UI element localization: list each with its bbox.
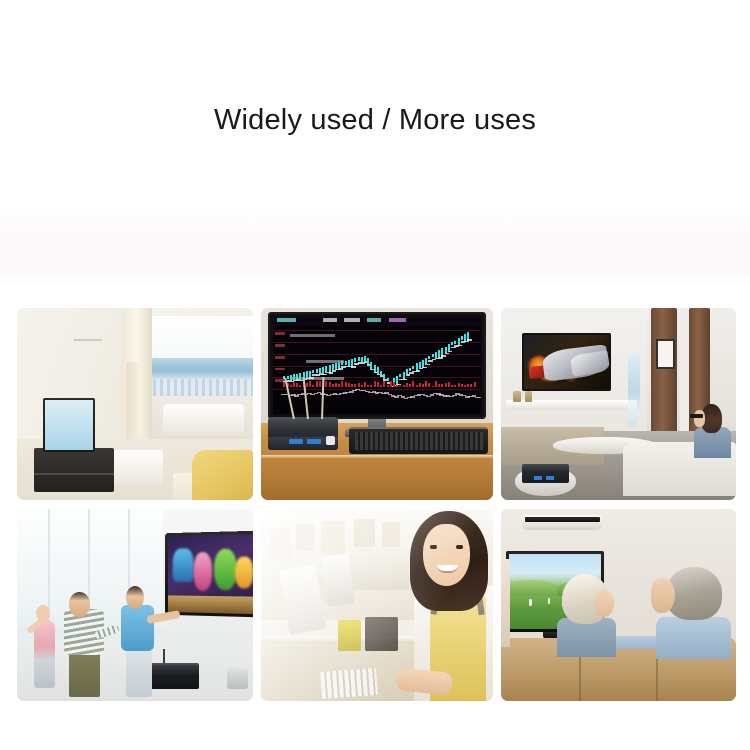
chart-element [364,356,366,361]
chart-element [290,385,292,387]
chart-element [348,383,350,387]
gallery-tile-living-room-3d-movie[interactable] [501,308,736,500]
decorative-tint-band [0,213,750,285]
gallery-tile-shop-clerk-pos[interactable] [261,509,493,701]
chart-element [412,366,414,369]
chart-element [438,384,440,387]
chart-element [361,385,363,387]
elderly-couple-scene-image [501,509,736,701]
chart-element [370,385,372,387]
chart-element [458,345,463,347]
chart-element [416,370,421,372]
gallery-tile-stock-trading-desk[interactable] [261,308,493,500]
chart-element [312,370,314,373]
chart-element [419,383,421,387]
chart-element [325,381,327,387]
chart-element [406,369,408,374]
chart-element [287,376,289,380]
chart-element [358,383,360,387]
3d-glasses-icon [690,414,703,419]
gallery-tile-hotel-bedroom[interactable] [17,308,253,500]
chart-element [422,367,427,369]
chart-element [335,383,337,387]
page-title: Widely used / More uses [0,104,750,137]
chart-element [425,364,430,366]
chart-element [351,366,356,368]
chart-element [438,357,443,359]
chart-element [361,357,363,363]
chart-element [412,381,414,387]
chart-element [341,381,343,387]
chart-element [451,385,453,387]
chart-element [345,361,347,366]
chart-element [461,336,463,341]
chart-element [464,341,469,343]
chart-element [467,384,469,387]
chart-element [451,347,456,349]
chart-element [478,397,481,399]
chart-element [380,371,382,375]
chart-element [416,385,418,387]
chart-element [358,357,360,361]
chart-element [332,384,334,387]
chart-element [377,382,379,387]
chart-element [403,385,405,388]
chart-element [293,382,295,387]
chart-element [409,368,411,372]
chart-element [422,384,424,387]
chart-element [387,385,389,387]
usage-scenario-gallery [17,308,736,701]
chart-element [406,374,411,376]
chart-element [445,353,450,355]
chart-element [290,334,336,337]
chart-element [338,384,340,387]
chart-element [419,368,424,370]
chart-element [432,386,434,388]
chart-element [452,395,457,397]
chart-element [454,341,456,344]
chart-element [458,383,460,387]
chart-element [273,330,481,331]
chart-element [435,381,437,387]
chart-element [319,381,321,387]
living-room-3d-scene-image [501,308,736,500]
picture-frame-icon [656,339,675,370]
chart-element [403,379,408,381]
chart-element [316,381,318,387]
chart-element [345,382,347,388]
chart-element [374,381,376,387]
chart-element [273,342,481,343]
chart-element [294,395,299,397]
chart-element [409,384,411,387]
chart-element [390,381,392,387]
chart-element [354,358,356,362]
chart-element [312,385,314,387]
chart-element [380,385,382,387]
chart-element [319,368,321,373]
monitor-icon [268,312,486,420]
chart-element [396,385,398,387]
hotel-bedroom-scene-image [17,308,253,500]
retail-pos-scene-image [261,509,493,701]
chart-element [299,385,301,387]
chart-element [383,374,385,378]
chart-element [367,358,369,363]
chart-element [464,385,466,387]
chart-element [461,384,463,387]
chart-element [309,377,314,379]
chart-element [275,332,285,335]
keyboard-icon [349,427,488,454]
chart-element [338,368,343,370]
chart-element [275,344,285,347]
chart-element [470,384,472,387]
chart-element [394,396,399,398]
chart-element [445,383,447,387]
trading-desk-scene-image [261,308,493,500]
chart-element [428,356,430,359]
media-box-device [522,464,569,483]
chart-element [409,372,414,374]
chart-element [399,386,401,388]
chart-element [410,396,415,398]
chart-element [341,361,343,365]
chart-element [351,384,353,387]
gallery-tile-elderly-couple-tv[interactable] [501,509,736,701]
chart-element [364,382,366,387]
chart-element [448,382,450,387]
chart-element [441,384,443,387]
chart-element [393,382,395,387]
chart-element [383,381,385,387]
chart-element [467,339,472,341]
chart-element [354,384,356,387]
chart-element [425,381,427,387]
chart-element [428,360,433,362]
wall-television-icon [522,333,611,391]
chart-element [406,383,408,387]
chart-element [322,374,327,376]
chart-element [428,383,430,387]
chart-element [432,354,434,357]
chart-element [275,356,285,359]
chart-element [448,351,453,353]
chart-element [349,391,354,393]
chart-element [273,354,481,355]
chart-element [426,396,431,398]
chart-element [296,374,298,380]
chart-element [306,383,308,387]
chart-element [329,382,331,387]
family-gaming-scene-image [17,509,253,701]
chart-element [474,382,476,387]
chart-element [399,374,401,377]
gallery-tile-family-motion-gaming[interactable] [17,509,253,701]
chart-element [275,368,285,371]
chart-element [329,372,334,374]
chart-element [296,383,298,387]
chart-element [454,385,456,387]
television-icon [43,398,95,452]
chart-element [451,342,453,345]
television-icon [166,531,253,618]
chart-element [367,385,369,387]
chart-element [309,381,311,387]
chart-element [387,378,389,381]
chart-element [316,369,318,374]
chart-element [441,355,446,357]
